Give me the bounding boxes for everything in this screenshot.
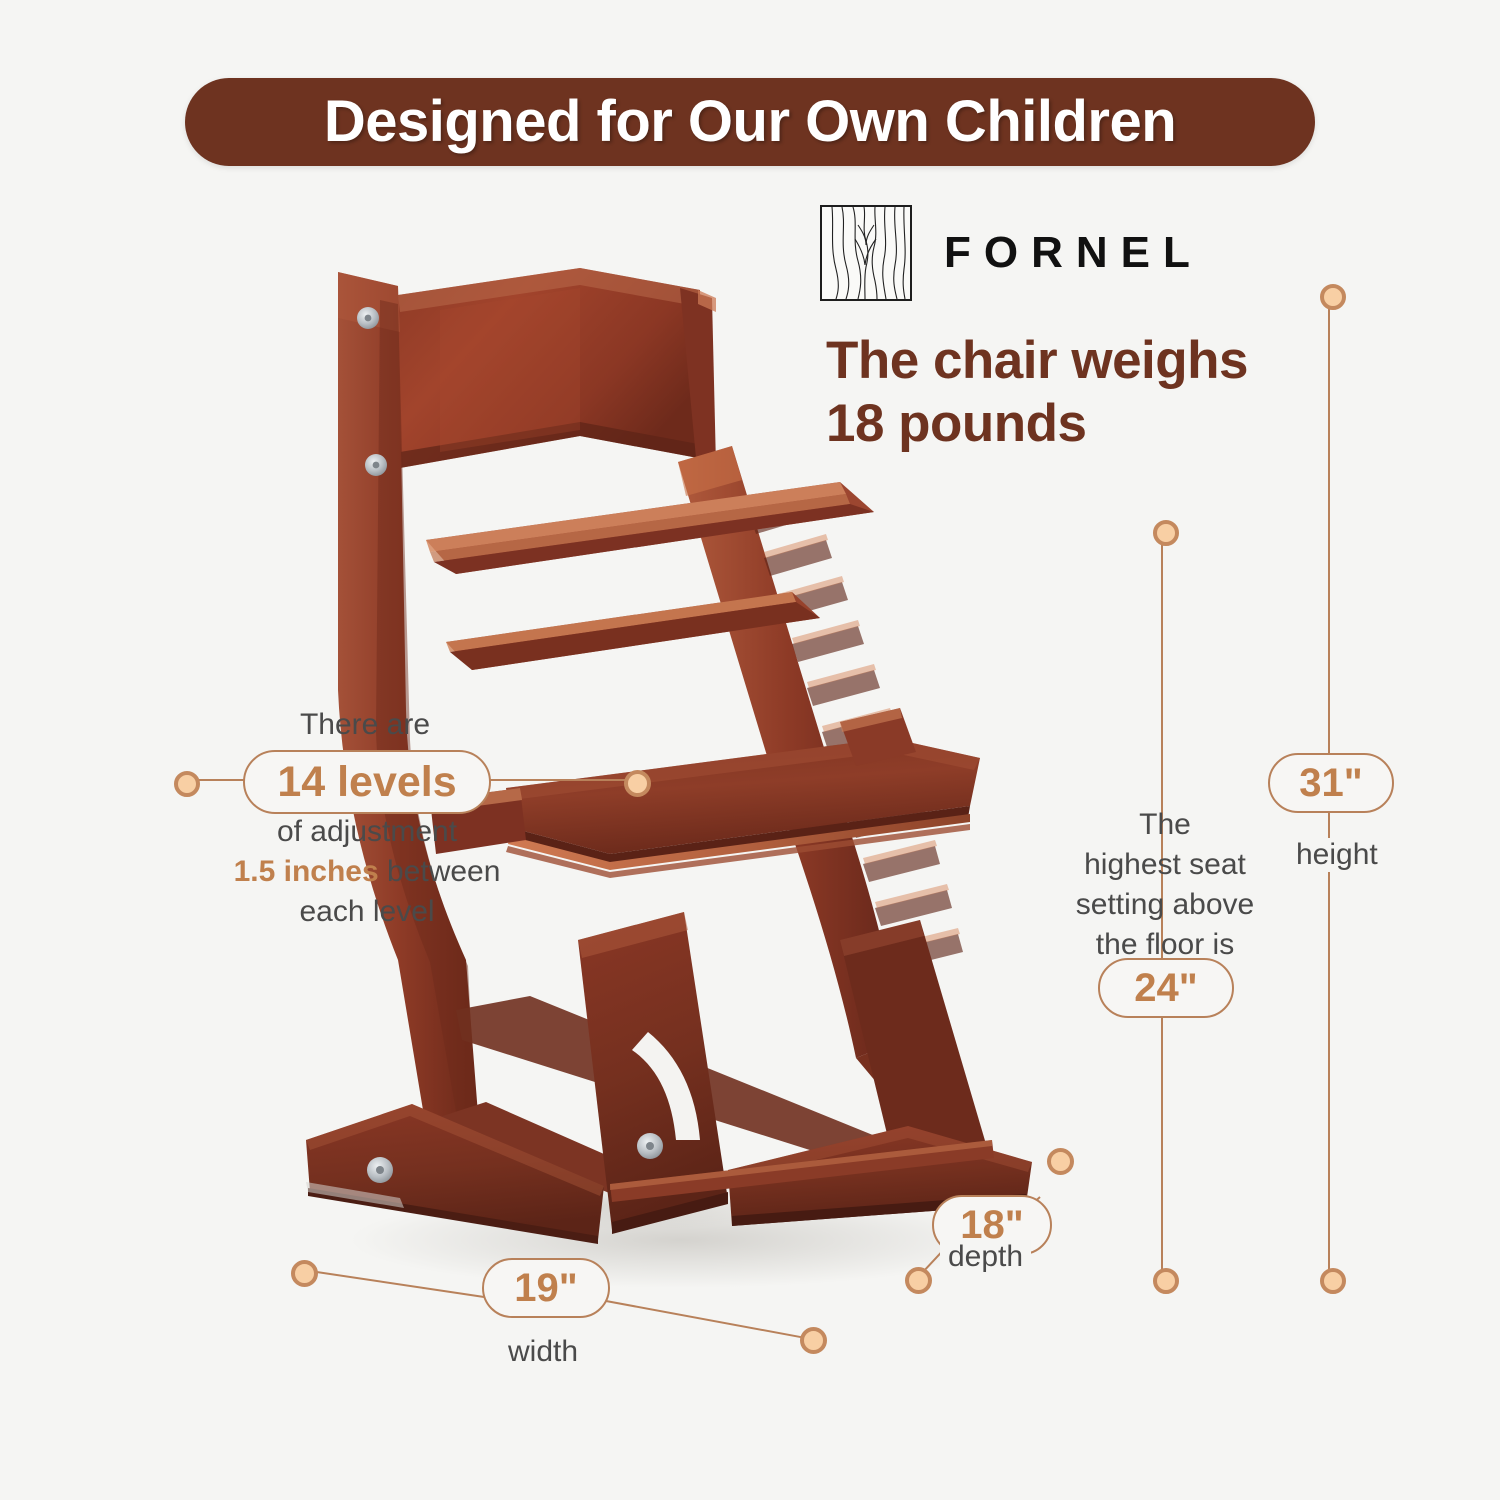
seat-note-line-2: highest seat: [1060, 845, 1270, 885]
levels-intro-text: There are: [248, 705, 482, 745]
seat-height-value-pill: 24": [1098, 958, 1234, 1018]
seat-height-endpoint-dot-top: [1153, 520, 1179, 546]
header-banner: Designed for Our Own Children: [185, 78, 1315, 166]
width-caption: width: [500, 1335, 586, 1369]
total-height-measure-line-lower: [1328, 809, 1330, 1274]
width-endpoint-dot-right: [800, 1327, 827, 1354]
levels-spacing-value: 1.5 inches: [234, 855, 379, 888]
levels-detail-line-1: of adjustment: [228, 812, 506, 852]
page-title: Designed for Our Own Children: [324, 93, 1176, 151]
levels-endpoint-dot-right: [624, 770, 651, 797]
depth-endpoint-dot-lower: [905, 1267, 932, 1294]
levels-value-pill: 14 levels: [243, 750, 491, 814]
levels-leader-line-left: [192, 779, 245, 781]
width-value-pill: 19": [482, 1258, 610, 1318]
total-height-endpoint-dot-bottom: [1320, 1268, 1346, 1294]
levels-endpoint-dot-left: [174, 771, 200, 797]
total-height-value-pill: 31": [1268, 753, 1394, 813]
seat-height-description: The highest seat setting above the floor…: [1060, 805, 1270, 965]
total-height-endpoint-dot-top: [1320, 284, 1346, 310]
seat-height-measure-line-lower: [1161, 1014, 1163, 1274]
levels-detail-rest: between: [379, 855, 501, 888]
depth-endpoint-dot-upper: [1047, 1148, 1074, 1175]
levels-detail-line-3: each level: [228, 892, 506, 932]
levels-leader-line-right: [487, 779, 633, 781]
levels-detail-text: of adjustment 1.5 inches between each le…: [228, 812, 506, 932]
depth-caption: depth: [940, 1240, 1031, 1274]
seat-note-line-1: The: [1060, 805, 1270, 845]
levels-detail-line-2: 1.5 inches between: [228, 852, 506, 892]
seat-note-line-3: setting above: [1060, 885, 1270, 925]
seat-height-endpoint-dot-bottom: [1153, 1268, 1179, 1294]
total-height-measure-line-upper: [1328, 302, 1330, 762]
infographic-canvas: Designed for Our Own Children FORN: [0, 0, 1500, 1500]
total-height-caption: height: [1288, 838, 1386, 872]
width-endpoint-dot-left: [291, 1260, 318, 1287]
